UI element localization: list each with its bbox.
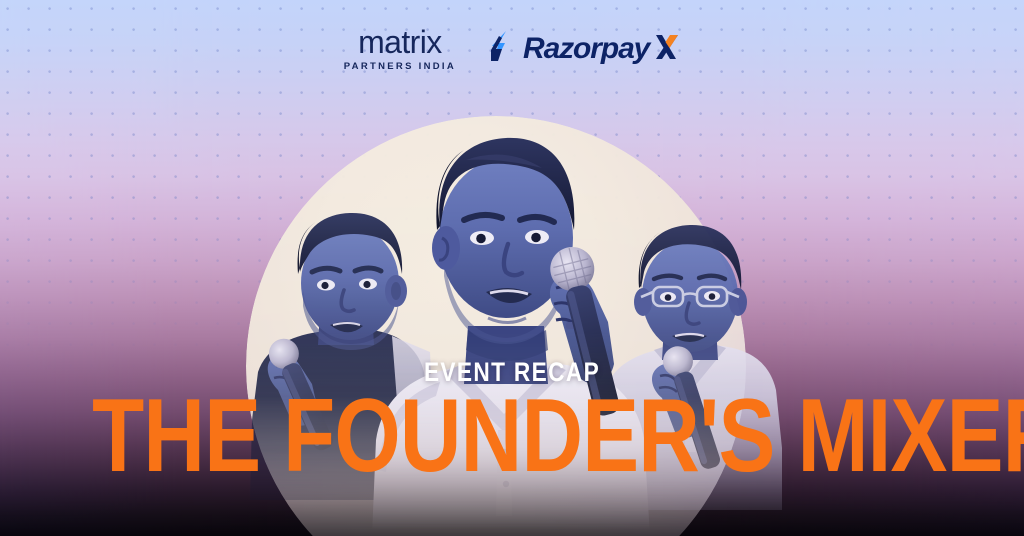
event-recap-banner: matrix PARTNERS INDIA Razorpay EVENT REC… — [0, 0, 1024, 536]
logo-bar: matrix PARTNERS INDIA Razorpay — [0, 26, 1024, 72]
matrix-logo-wordmark: matrix — [358, 26, 442, 58]
razorpayx-x-icon — [650, 32, 680, 62]
matrix-logo-tagline: PARTNERS INDIA — [344, 62, 456, 72]
event-title: THE FOUNDER'S MIXER — [92, 384, 932, 488]
razorpayx-wordmark: Razorpay — [523, 32, 680, 66]
razorpayx-mark-icon — [490, 30, 520, 67]
matrix-partners-india-logo[interactable]: matrix PARTNERS INDIA — [344, 26, 456, 72]
razorpayx-logo[interactable]: Razorpay — [490, 30, 680, 67]
